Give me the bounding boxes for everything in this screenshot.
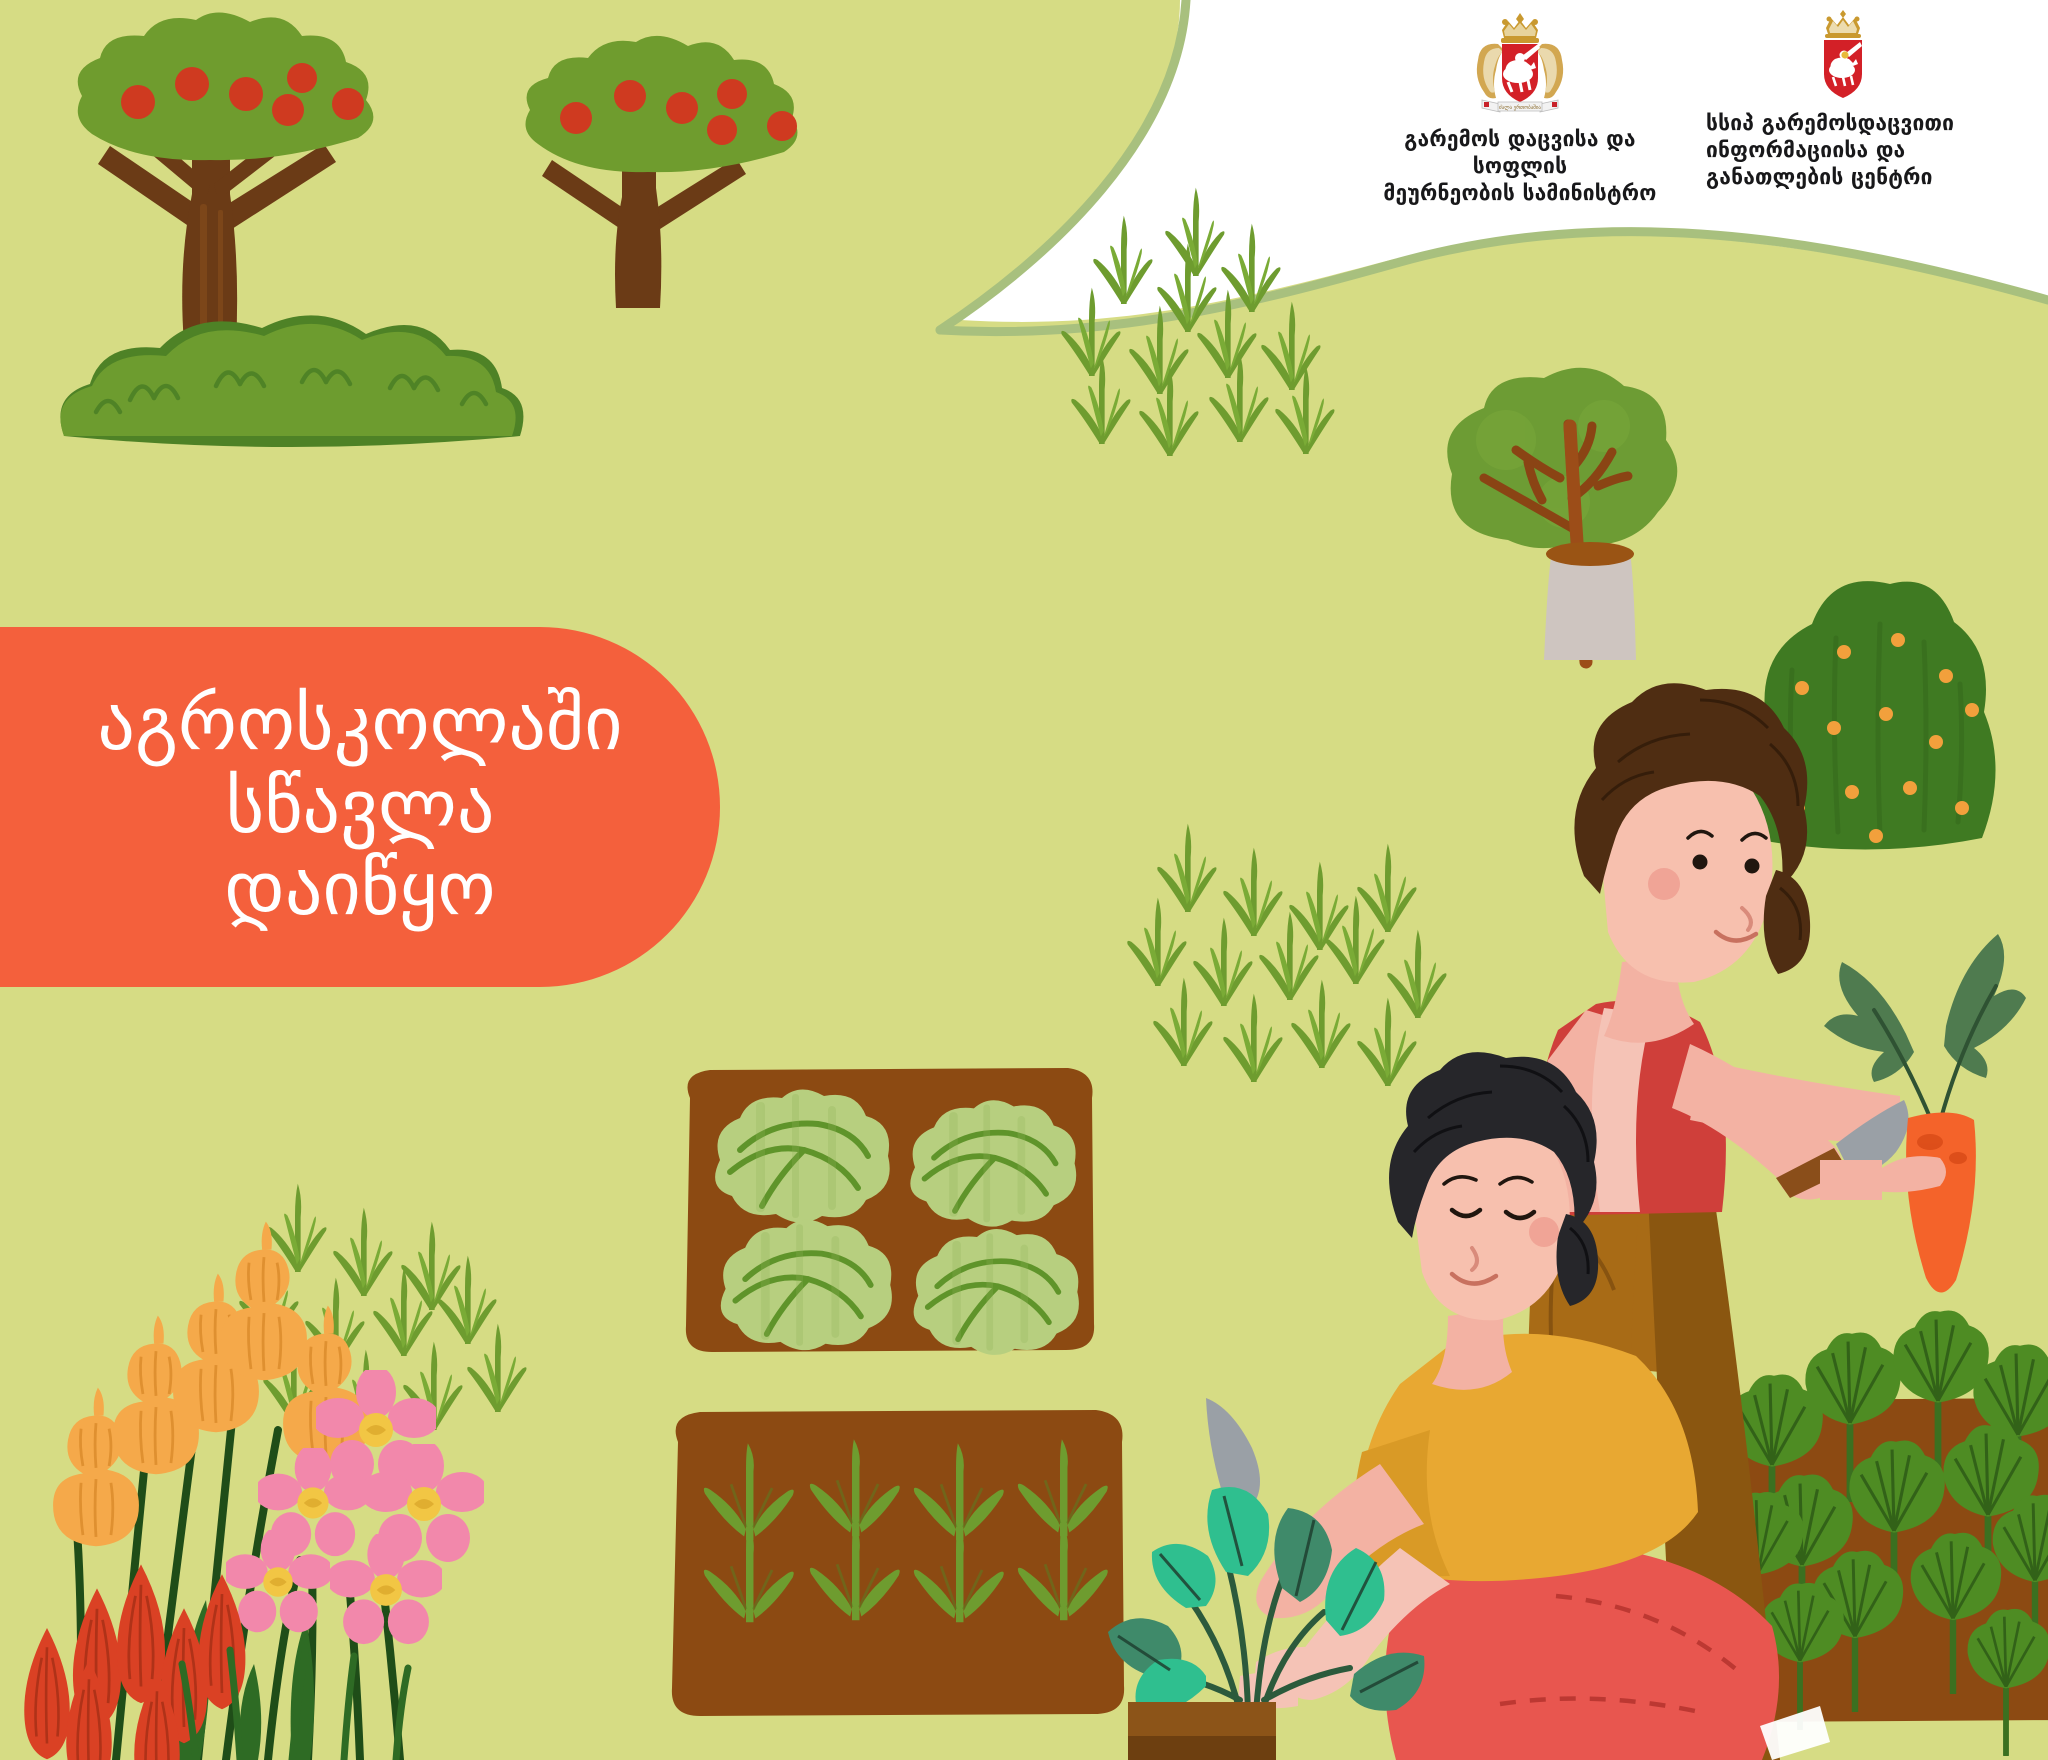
logo-center: სსიპ გარემოსდაცვითი ინფორმაციისა და განა… <box>1698 8 1988 191</box>
cheek <box>1529 1217 1559 1247</box>
title-line-3: დაიწყო <box>224 848 495 931</box>
logo-center-caption-line-3: განათლების ცენტრი <box>1706 164 1988 191</box>
poster-canvas: ძალა ერთობაშია გარემოს დაცვისა და სოფლის… <box>0 0 2048 1760</box>
eye <box>1745 859 1760 874</box>
logo-center-caption-line-2: ინფორმაციისა და <box>1706 137 1988 164</box>
title-line-1: აგროსკოლაში <box>97 683 622 766</box>
georgia-shield-crown-icon <box>1812 8 1874 100</box>
logo-bar: ძალა ერთობაშია გარემოს დაცვისა და სოფლის… <box>1370 8 2030 207</box>
seedling-bed <box>672 1410 1124 1716</box>
svg-text:ძალა ერთობაშია: ძალა ერთობაშია <box>1499 104 1541 111</box>
georgia-coat-of-arms-icon: ძალა ერთობაშია <box>1468 8 1572 116</box>
cabbage-bed <box>686 1068 1094 1355</box>
logo-ministry-caption-line-2: მეურნეობის სამინისტრო <box>1370 180 1670 207</box>
logo-center-caption: სსიპ გარემოსდაცვითი ინფორმაციისა და განა… <box>1698 110 1988 191</box>
title-line-2: სწავლა <box>226 766 495 849</box>
cheek <box>1648 868 1680 900</box>
logo-center-caption-line-1: სსიპ გარემოსდაცვითი <box>1706 110 1988 137</box>
logo-ministry-caption: გარემოს დაცვისა და სოფლის მეურნეობის სამ… <box>1370 126 1670 207</box>
logo-ministry-caption-line-1: გარემოს დაცვისა და სოფლის <box>1370 126 1670 180</box>
title-banner: აგროსკოლაში სწავლა დაიწყო <box>0 627 720 987</box>
logo-ministry: ძალა ერთობაშია გარემოს დაცვისა და სოფლის… <box>1370 8 1670 207</box>
eye <box>1693 855 1708 870</box>
